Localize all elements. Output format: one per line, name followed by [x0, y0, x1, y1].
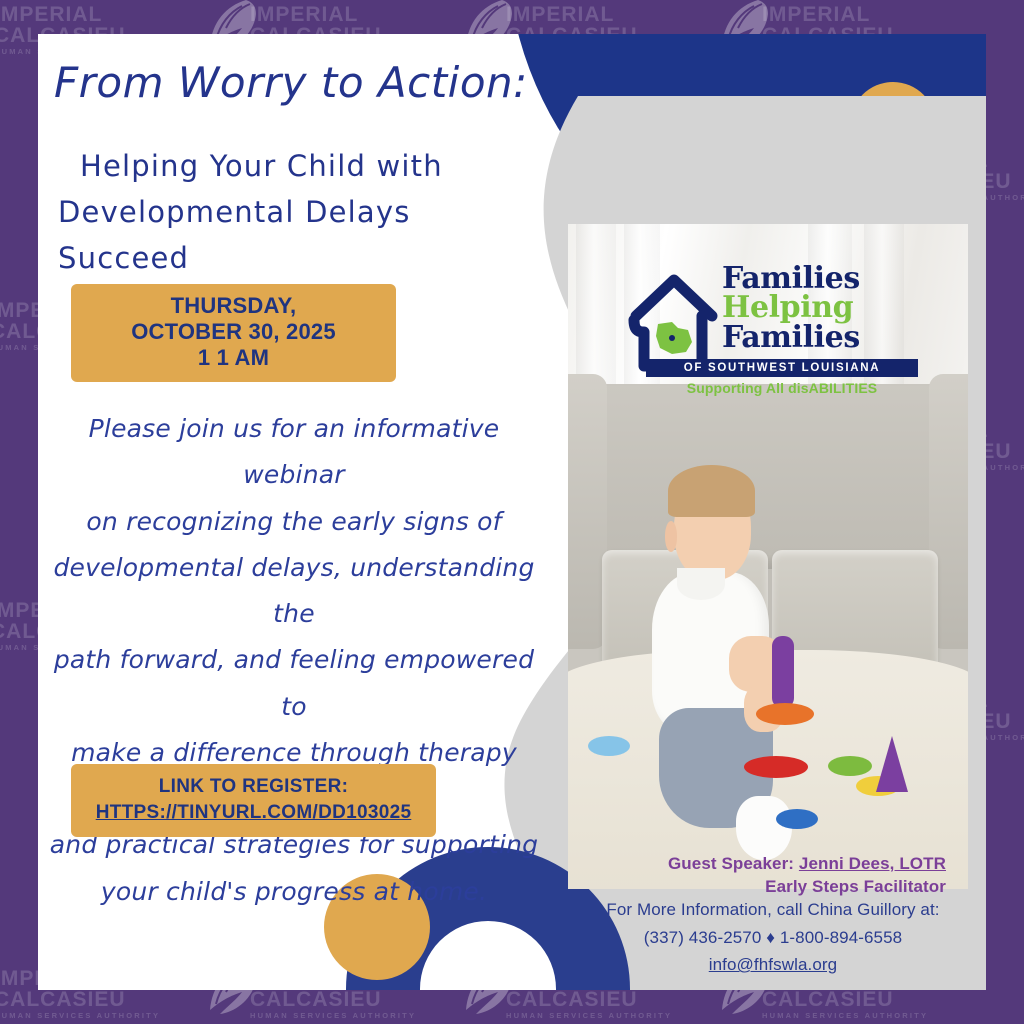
guest-speaker-line: Guest Speaker: Jenni Dees, LOTR [568, 852, 946, 875]
guest-speaker-prefix: Guest Speaker: [668, 854, 799, 873]
child-sock [736, 796, 791, 860]
toy-red-ring [744, 756, 808, 778]
body-line: developmental delays, understanding the [44, 545, 544, 638]
subtitle-line-1: Helping Your Child with [58, 144, 528, 190]
event-date: OCTOBER 30, 2025 [71, 319, 396, 345]
feather-icon [0, 292, 2, 352]
register-link-badge[interactable]: LINK TO REGISTER: HTTPS://TINYURL.COM/DD… [71, 764, 436, 837]
logo-wordmark: Families Helping Families [722, 264, 918, 352]
event-time: 1 1 AM [71, 345, 396, 371]
text-column: From Worry to Action: Helping Your Child… [38, 34, 558, 990]
families-helping-families-logo: Families Helping Families OF SOUTHWEST L… [628, 264, 918, 399]
body-line: path forward, and feeling empowered to [44, 637, 544, 730]
toy-purple-cone [876, 736, 908, 792]
flyer-card: From Worry to Action: Helping Your Child… [38, 34, 986, 990]
register-url[interactable]: HTTPS://TINYURL.COM/DD103025 [71, 800, 436, 826]
body-line: on recognizing the early signs of [44, 499, 544, 545]
feather-icon [0, 960, 6, 1020]
event-photo: Families Helping Families OF SOUTHWEST L… [568, 224, 968, 889]
feather-icon [0, 0, 6, 56]
toy-orange-ring [756, 703, 814, 725]
poster-canvas: IMPERIALCALCASIEUHUMAN SERVICES AUTHORIT… [0, 0, 1024, 1024]
logo-word-families-1: Families [722, 264, 918, 293]
register-label: LINK TO REGISTER: [71, 774, 436, 800]
guest-speaker-block: Guest Speaker: Jenni Dees, LOTR Early St… [568, 852, 968, 899]
subtitle-line-2: Developmental Delays Succeed [58, 190, 528, 282]
couch-arm-left [568, 374, 607, 649]
feather-icon [0, 592, 2, 652]
body-line: your child's progress at home. [44, 869, 544, 915]
logo-word-helping: Helping [722, 293, 918, 322]
logo-region-bar: OF SOUTHWEST LOUISIANA [646, 359, 918, 377]
description-paragraph: Please join us for an informative webina… [44, 406, 544, 915]
child-hair [668, 465, 754, 517]
event-date-badge: THURSDAY, OCTOBER 30, 2025 1 1 AM [71, 284, 396, 382]
toy-blue-ring-left [588, 736, 630, 756]
logo-word-families-2: Families [722, 323, 918, 352]
page-title: From Worry to Action: [54, 58, 534, 107]
contact-email[interactable]: info@fhfswla.org [568, 951, 978, 979]
contact-block: For More Information, call China Guillor… [568, 896, 978, 979]
event-day: THURSDAY, [71, 293, 396, 319]
logo-tagline: Supporting All disABILITIES [646, 380, 918, 396]
contact-line-1: For More Information, call China Guillor… [568, 896, 978, 924]
toy-green-ring [828, 756, 872, 776]
toy-purple-post [772, 636, 794, 708]
page-subtitle: Helping Your Child with Developmental De… [58, 144, 528, 281]
body-line: Please join us for an informative webina… [44, 406, 544, 499]
contact-phones: (337) 436-2570 ♦ 1-800-894-6558 [568, 924, 978, 952]
guest-speaker-name: Jenni Dees, LOTR [799, 854, 946, 873]
